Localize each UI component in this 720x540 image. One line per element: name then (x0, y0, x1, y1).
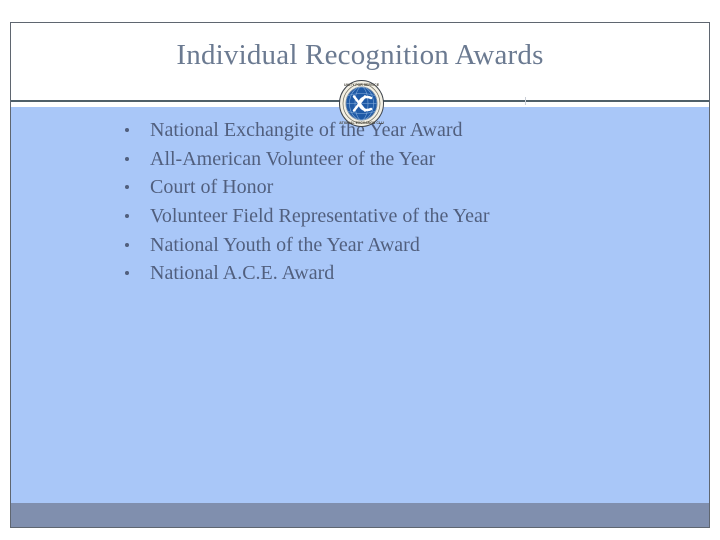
bullet-dot-icon (125, 214, 129, 218)
list-item: National A.C.E. Award (119, 259, 490, 288)
bullet-dot-icon (125, 128, 129, 132)
list-item: All-American Volunteer of the Year (119, 145, 490, 174)
list-item: Volunteer Field Representative of the Ye… (119, 202, 490, 231)
list-item-label: National A.C.E. Award (150, 262, 334, 284)
bullet-dot-icon (125, 243, 129, 247)
bullet-dot-icon (125, 271, 129, 275)
list-item-label: Volunteer Field Representative of the Ye… (150, 205, 490, 227)
list-item: National Youth of the Year Award (119, 231, 490, 260)
list-item-label: National Exchangite of the Year Award (150, 119, 463, 141)
footer-bar (11, 503, 709, 527)
list-item-label: National Youth of the Year Award (150, 234, 420, 256)
divider-tick-mark (525, 97, 526, 105)
slide-canvas: Individual Recognition Awards UNITY (10, 22, 710, 528)
page-title: Individual Recognition Awards (11, 38, 709, 72)
award-list: National Exchangite of the Year Award Al… (119, 116, 490, 288)
bullet-dot-icon (125, 185, 129, 189)
national-exchange-club-seal-icon: UNITY FOR SERVICE NATIONAL EXCHANGE CLUB (339, 80, 384, 127)
svg-text:UNITY FOR SERVICE: UNITY FOR SERVICE (344, 83, 380, 87)
list-item-label: All-American Volunteer of the Year (150, 148, 435, 170)
bullet-dot-icon (125, 157, 129, 161)
list-item: National Exchangite of the Year Award (119, 116, 490, 145)
list-item: Court of Honor (119, 173, 490, 202)
svg-text:NATIONAL EXCHANGE CLUB: NATIONAL EXCHANGE CLUB (339, 121, 384, 125)
list-item-label: Court of Honor (150, 176, 273, 198)
